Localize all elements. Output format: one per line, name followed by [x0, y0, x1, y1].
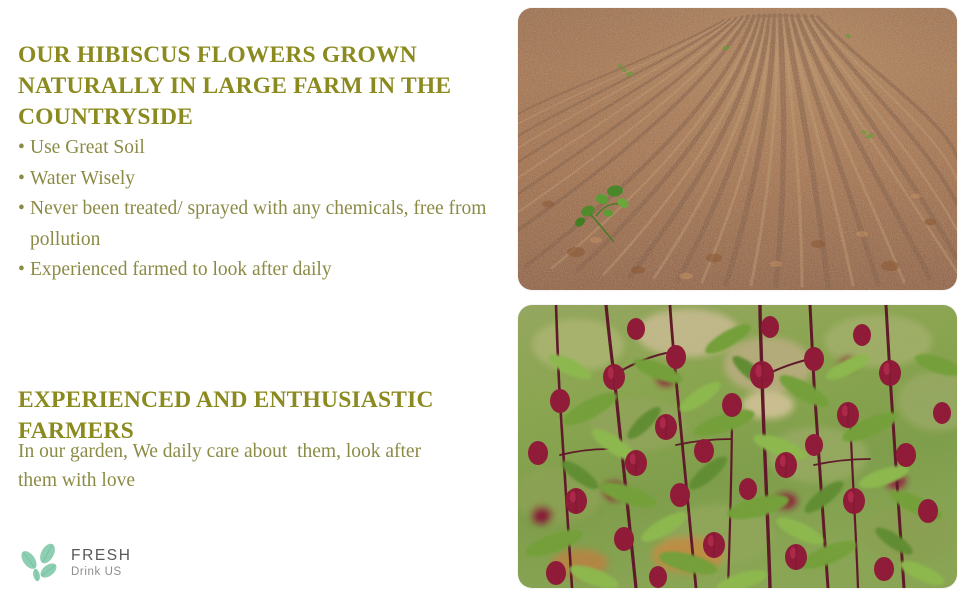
brand-logo: FRESH Drink US — [17, 538, 197, 588]
leaf-cluster-icon — [17, 540, 63, 586]
bullet-icon: • — [18, 133, 25, 164]
list-item-label: Experienced farmed to look after daily — [30, 259, 332, 280]
photo-soil-field — [518, 8, 957, 290]
list-item: • Never been treated/ sprayed with any c… — [18, 194, 516, 255]
list-item-label: Never been treated/ sprayed with any che… — [30, 198, 486, 250]
bullet-icon: • — [18, 164, 25, 195]
text-column: OUR HIBISCUS FLOWERS GROWN NATURALLY IN … — [0, 0, 518, 600]
section-body-farmers: In our garden, We daily care about them,… — [18, 437, 458, 495]
list-item-label: Water Wisely — [30, 168, 135, 189]
product-info-banner: OUR HIBISCUS FLOWERS GROWN NATURALLY IN … — [0, 0, 970, 600]
feature-bullet-list: • Use Great Soil • Water Wisely • Never … — [18, 133, 516, 286]
list-item: • Experienced farmed to look after daily — [18, 255, 516, 286]
list-item: • Water Wisely — [18, 164, 516, 195]
brand-name-secondary: Drink US — [71, 567, 132, 579]
bullet-icon: • — [18, 255, 25, 286]
page-title: OUR HIBISCUS FLOWERS GROWN NATURALLY IN … — [18, 40, 498, 133]
brand-wordmark: FRESH Drink US — [71, 548, 132, 578]
bullet-icon: • — [18, 194, 25, 225]
list-item: • Use Great Soil — [18, 133, 516, 164]
brand-name-primary: FRESH — [71, 548, 132, 564]
list-item-label: Use Great Soil — [30, 137, 145, 158]
photo-hibiscus-plants — [518, 305, 957, 588]
